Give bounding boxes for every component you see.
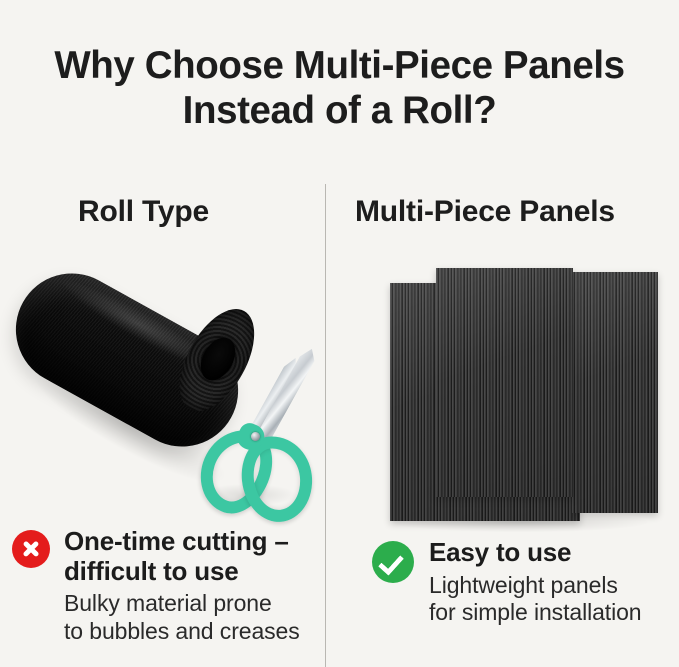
feature-text-right: Easy to use Lightweight panels for simpl… bbox=[429, 538, 641, 627]
feature-sub-right-line1: Lightweight panels bbox=[429, 572, 641, 600]
feature-title-left-line1: One-time cutting – bbox=[64, 527, 300, 557]
feature-roll-type: One-time cutting – difficult to use Bulk… bbox=[12, 527, 312, 645]
feature-multi-piece-panels: Easy to use Lightweight panels for simpl… bbox=[372, 538, 672, 627]
feature-sub-left-line1: Bulky material prone bbox=[64, 590, 300, 618]
scissors-group bbox=[196, 332, 321, 502]
circle-check-icon bbox=[372, 541, 414, 583]
scissors-pivot-screw bbox=[251, 432, 260, 441]
scissors-image bbox=[196, 332, 321, 502]
feature-sub-right: Lightweight panels for simple installati… bbox=[429, 572, 641, 627]
column-heading-left: Roll Type bbox=[78, 195, 209, 229]
feature-title-left: One-time cutting – difficult to use bbox=[64, 527, 300, 586]
feature-sub-left: Bulky material prone to bubbles and crea… bbox=[64, 590, 300, 645]
feature-sub-right-line2: for simple installation bbox=[429, 599, 641, 627]
page-title: Why Choose Multi-Piece Panels Instead of… bbox=[0, 44, 679, 133]
feature-sub-left-line2: to bubbles and creases bbox=[64, 618, 300, 646]
title-line-2: Instead of a Roll? bbox=[0, 89, 679, 134]
title-line-1: Why Choose Multi-Piece Panels bbox=[0, 44, 679, 89]
feature-title-left-line2: difficult to use bbox=[64, 557, 300, 587]
column-heading-right: Multi-Piece Panels bbox=[355, 195, 615, 229]
circle-x-icon bbox=[12, 530, 50, 568]
panel-sheet-right bbox=[572, 272, 658, 513]
column-divider bbox=[325, 184, 326, 667]
infographic-root: Why Choose Multi-Piece Panels Instead of… bbox=[0, 0, 679, 667]
feature-title-right: Easy to use bbox=[429, 538, 641, 568]
scissors-blade-front bbox=[255, 346, 319, 445]
feature-text-left: One-time cutting – difficult to use Bulk… bbox=[64, 527, 300, 645]
panel-sheet-front bbox=[436, 268, 573, 497]
panels-product-image bbox=[340, 250, 679, 535]
feature-title-right-line1: Easy to use bbox=[429, 538, 641, 568]
